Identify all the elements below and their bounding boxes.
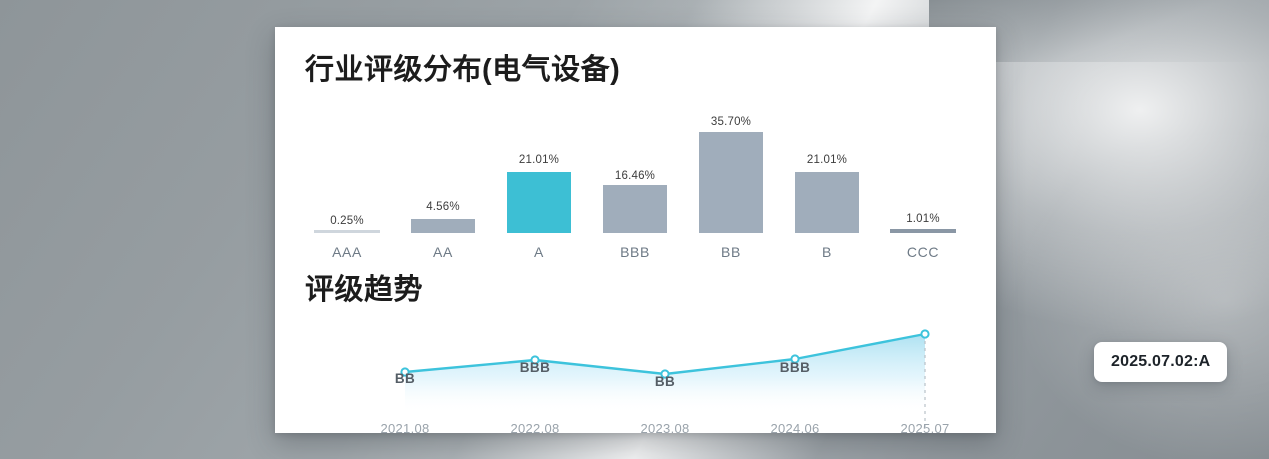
bar-column-bb[interactable]: 35.70% BB	[683, 115, 779, 260]
rating-distribution-bar-chart: 0.25% AAA 4.56% AA 21.01% A 16.46% BBB 3	[299, 115, 972, 260]
bar-value-a: 21.01%	[491, 154, 587, 166]
bar-label-b: B	[779, 244, 875, 260]
bar-label-ccc: CCC	[875, 244, 971, 260]
bar-rect-a[interactable]	[507, 172, 571, 233]
bar-label-a: A	[491, 244, 587, 260]
trend-point-label-0: BB	[395, 371, 415, 386]
bar-column-a[interactable]: 21.01% A	[491, 115, 587, 260]
rating-trend-line-chart: BB BBB BB BBB 2021.08 2022.08 2023.08 20…	[299, 319, 972, 431]
bar-column-ccc[interactable]: 1.01% CCC	[875, 115, 971, 260]
bar-value-b: 21.01%	[779, 154, 875, 166]
screenshot-stage: 行业评级分布(电气设备) 0.25% AAA 4.56% AA 21.01% A…	[0, 0, 1269, 459]
trend-point-label-2: BB	[655, 374, 675, 389]
bar-column-b[interactable]: 21.01% B	[779, 115, 875, 260]
trend-point-label-1: BBB	[520, 360, 550, 375]
bar-value-aaa: 0.25%	[299, 215, 395, 227]
trend-x-label-0: 2021.08	[380, 421, 429, 436]
page-title: 行业评级分布(电气设备)	[305, 56, 620, 85]
bar-label-bbb: BBB	[587, 244, 683, 260]
trend-section-title: 评级趋势	[305, 276, 423, 305]
bar-column-aa[interactable]: 4.56% AA	[395, 115, 491, 260]
trend-x-label-2: 2023.08	[640, 421, 689, 436]
bar-rect-b[interactable]	[795, 172, 859, 233]
trend-tooltip: 2025.07.02:A	[1094, 342, 1227, 382]
trend-x-label-4: 2025.07	[900, 421, 949, 436]
bar-rect-aaa[interactable]	[314, 230, 380, 233]
bar-rect-ccc[interactable]	[890, 229, 956, 233]
bar-rect-aa[interactable]	[411, 219, 475, 233]
bar-value-aa: 4.56%	[395, 201, 491, 213]
trend-x-label-3: 2024.06	[770, 421, 819, 436]
bar-label-aa: AA	[395, 244, 491, 260]
bar-rect-bb[interactable]	[699, 132, 763, 233]
trend-point-label-3: BBB	[780, 360, 810, 375]
rating-card: 行业评级分布(电气设备) 0.25% AAA 4.56% AA 21.01% A…	[275, 27, 996, 433]
bar-value-bbb: 16.46%	[587, 170, 683, 182]
bar-column-aaa[interactable]: 0.25% AAA	[299, 115, 395, 260]
bar-rect-bbb[interactable]	[603, 185, 667, 233]
trend-point-4[interactable]	[921, 330, 928, 337]
bar-value-bb: 35.70%	[683, 116, 779, 128]
bar-label-aaa: AAA	[299, 244, 395, 260]
bar-column-bbb[interactable]: 16.46% BBB	[587, 115, 683, 260]
trend-x-label-1: 2022.08	[510, 421, 559, 436]
bar-value-ccc: 1.01%	[875, 213, 971, 225]
bar-label-bb: BB	[683, 244, 779, 260]
